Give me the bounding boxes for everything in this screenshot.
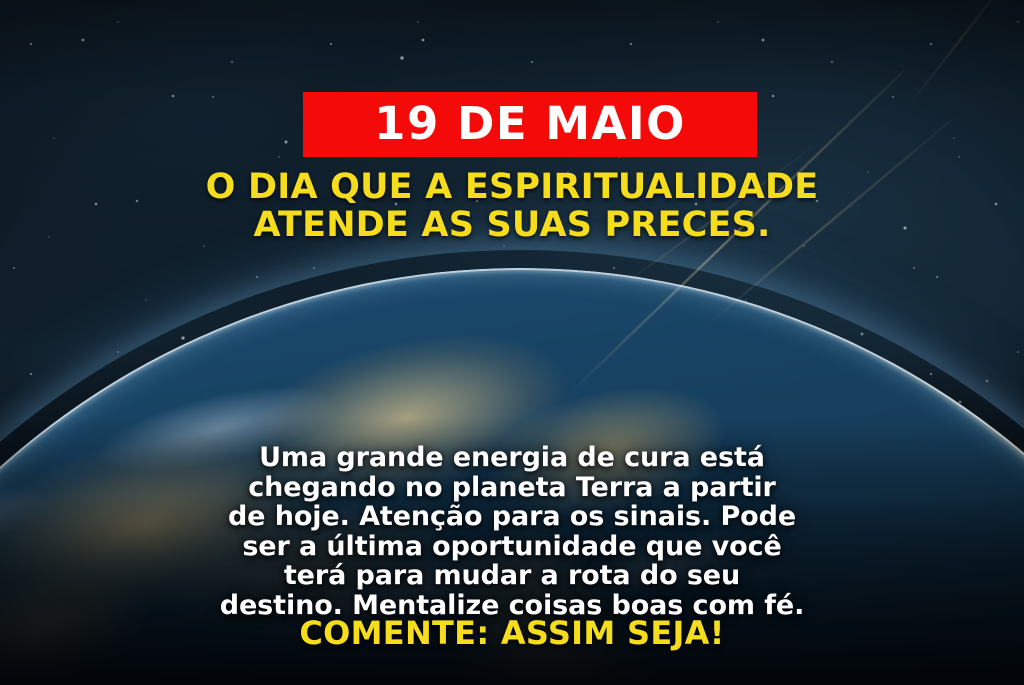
headline: O DIA QUE A ESPIRITUALIDADE ATENDE AS SU… bbox=[0, 168, 1024, 244]
body-line-3: de hoje. Atenção para os sinais. Pode bbox=[0, 502, 1024, 532]
date-banner-label: 19 DE MAIO bbox=[374, 101, 686, 146]
date-banner: 19 DE MAIO bbox=[303, 92, 757, 157]
body-line-1: Uma grande energia de cura está bbox=[0, 443, 1024, 473]
headline-line-2: ATENDE AS SUAS PRECES. bbox=[0, 206, 1024, 244]
call-to-action: COMENTE: ASSIM SEJA! bbox=[0, 615, 1024, 651]
body-line-5: terá para mudar a rota do seu bbox=[0, 561, 1024, 591]
body-line-2: chegando no planeta Terra a partir bbox=[0, 473, 1024, 503]
poster-content: 19 DE MAIO O DIA QUE A ESPIRITUALIDADE A… bbox=[0, 0, 1024, 685]
headline-line-1: O DIA QUE A ESPIRITUALIDADE bbox=[0, 168, 1024, 206]
body-paragraph: Uma grande energia de cura está chegando… bbox=[0, 443, 1024, 620]
call-to-action-label: COMENTE: ASSIM SEJA! bbox=[299, 614, 724, 652]
poster-canvas: 19 DE MAIO O DIA QUE A ESPIRITUALIDADE A… bbox=[0, 0, 1024, 685]
body-line-4: ser a última oportunidade que você bbox=[0, 532, 1024, 562]
